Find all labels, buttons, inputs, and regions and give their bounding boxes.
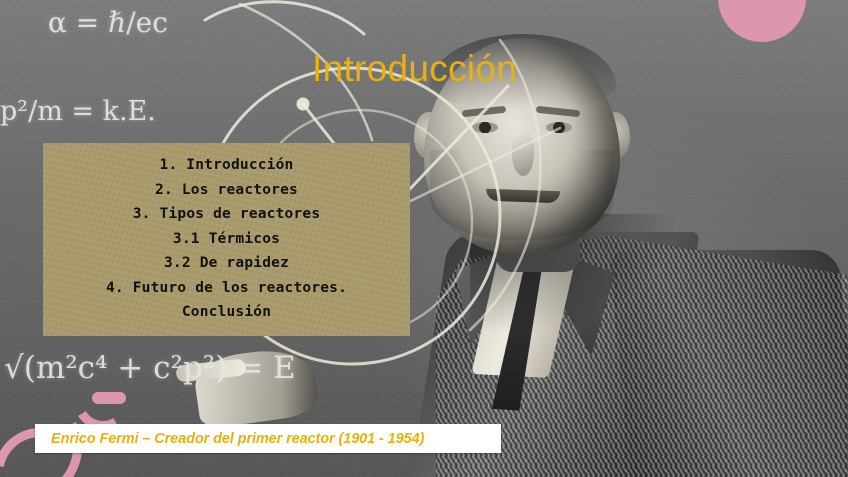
agenda-panel: 1. Introducción 2. Los reactores 3. Tipo… [43,143,410,336]
slide-title: Introducción [312,48,517,90]
agenda-item-3: 3. Tipos de reactores [43,202,410,227]
agenda-item-2: 2. Los reactores [43,178,410,203]
agenda-item-3-1: 3.1 Térmicos [43,227,410,252]
agenda-list: 1. Introducción 2. Los reactores 3. Tipo… [43,153,410,325]
presentation-slide: α = ℏ/ec p²/m = k.E. √(m²c⁴ + c²p²) = E … [0,0,848,477]
agenda-item-1: 1. Introducción [43,153,410,178]
pink-arc-decoration-4 [92,392,126,404]
agenda-item-3-2: 3.2 De rapidez [43,251,410,276]
agenda-item-4: 4. Futuro de los reactores. Conclusión [43,276,410,325]
caption-bar: Enrico Fermi – Creador del primer reacto… [35,424,501,453]
caption-text: Enrico Fermi – Creador del primer reacto… [35,431,424,447]
